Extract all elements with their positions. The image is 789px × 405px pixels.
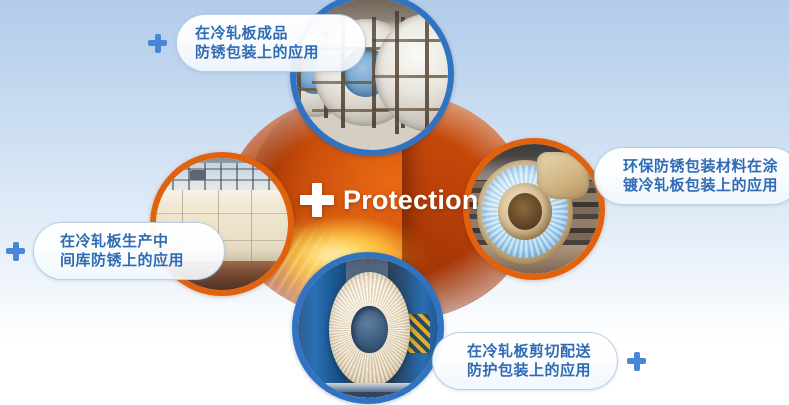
callout-top-line2: 防锈包装上的应用 bbox=[195, 43, 319, 62]
infographic-canvas: Protection 在冷轧板成品 防锈包装上的应用 在冷轧板生产中 间库防锈上… bbox=[0, 0, 789, 405]
center-protection-lockup: Protection bbox=[300, 183, 479, 217]
callout-bottom-pill[interactable]: 在冷轧板剪切配送 防护包装上的应用 bbox=[432, 332, 618, 390]
callout-left[interactable]: 在冷轧板生产中 间库防锈上的应用 bbox=[6, 222, 225, 280]
page-title: Protection bbox=[343, 185, 479, 216]
plus-icon bbox=[300, 183, 334, 217]
overhead-hoist bbox=[190, 170, 206, 180]
plus-icon bbox=[627, 352, 646, 371]
roof-truss bbox=[156, 163, 288, 192]
callout-top-line1: 在冷轧板成品 bbox=[195, 24, 319, 43]
machine-shaft bbox=[323, 383, 415, 393]
callout-bottom-line2: 防护包装上的应用 bbox=[467, 361, 591, 380]
photo-circle-bottom[interactable] bbox=[292, 252, 444, 404]
callout-bottom-line1: 在冷轧板剪切配送 bbox=[467, 342, 591, 361]
callout-top-pill[interactable]: 在冷轧板成品 防锈包装上的应用 bbox=[176, 14, 366, 72]
callout-bottom[interactable]: 在冷轧板剪切配送 防护包装上的应用 bbox=[432, 332, 646, 390]
photo-circle-right[interactable] bbox=[463, 138, 605, 280]
callout-left-line2: 间库防锈上的应用 bbox=[60, 251, 184, 270]
callout-right-line1: 环保防锈包装材料在涂 bbox=[623, 157, 778, 176]
callout-top[interactable]: 在冷轧板成品 防锈包装上的应用 bbox=[148, 14, 366, 72]
callout-right-pill[interactable]: 环保防锈包装材料在涂 镀冷轧板包装上的应用 bbox=[594, 147, 789, 205]
callout-right[interactable]: 环保防锈包装材料在涂 镀冷轧板包装上的应用 bbox=[594, 147, 789, 205]
coil-eye bbox=[351, 306, 387, 354]
coil-bore bbox=[508, 193, 542, 229]
wrapped-coil-vci-film-photo bbox=[469, 144, 599, 274]
kraft-cover-flap bbox=[537, 152, 589, 199]
packaging-machine-photo bbox=[298, 258, 438, 398]
plus-icon bbox=[6, 242, 25, 261]
plus-icon bbox=[148, 34, 167, 53]
callout-left-line1: 在冷轧板生产中 bbox=[60, 232, 184, 251]
callout-right-line2: 镀冷轧板包装上的应用 bbox=[623, 176, 778, 195]
callout-left-pill[interactable]: 在冷轧板生产中 间库防锈上的应用 bbox=[33, 222, 225, 280]
